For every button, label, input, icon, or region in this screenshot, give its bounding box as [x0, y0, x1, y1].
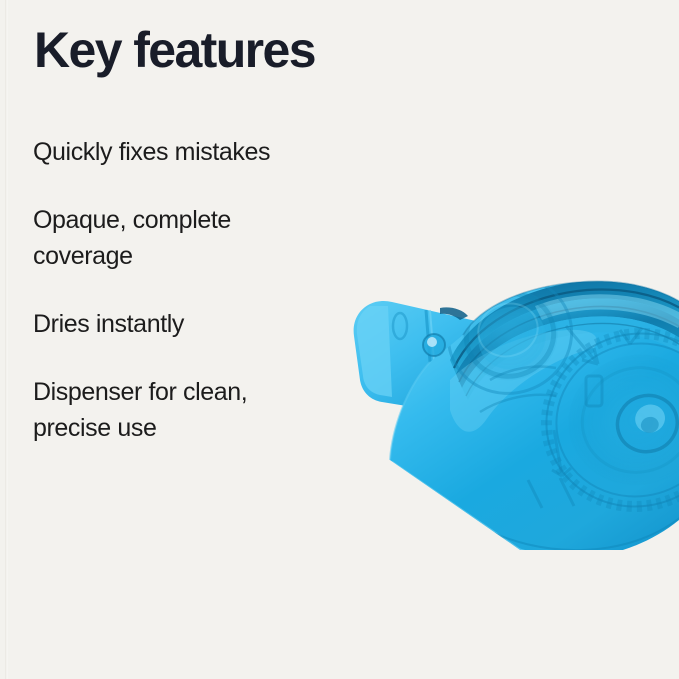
card-content: Key features Quickly fixes mistakes Opaq…	[0, 0, 679, 679]
list-item: Dispenser for clean, precise use	[33, 374, 323, 446]
correction-tape-illustration	[330, 130, 679, 550]
dispenser-shell	[390, 261, 679, 550]
product-image	[330, 130, 679, 550]
list-item: Dries instantly	[33, 306, 323, 342]
page-title: Key features	[34, 20, 315, 80]
list-item: Opaque, complete coverage	[33, 202, 323, 274]
feature-list: Quickly fixes mistakes Opaque, complete …	[33, 134, 323, 446]
product-feature-card: Key features Quickly fixes mistakes Opaq…	[0, 0, 679, 679]
list-item: Quickly fixes mistakes	[33, 134, 323, 170]
